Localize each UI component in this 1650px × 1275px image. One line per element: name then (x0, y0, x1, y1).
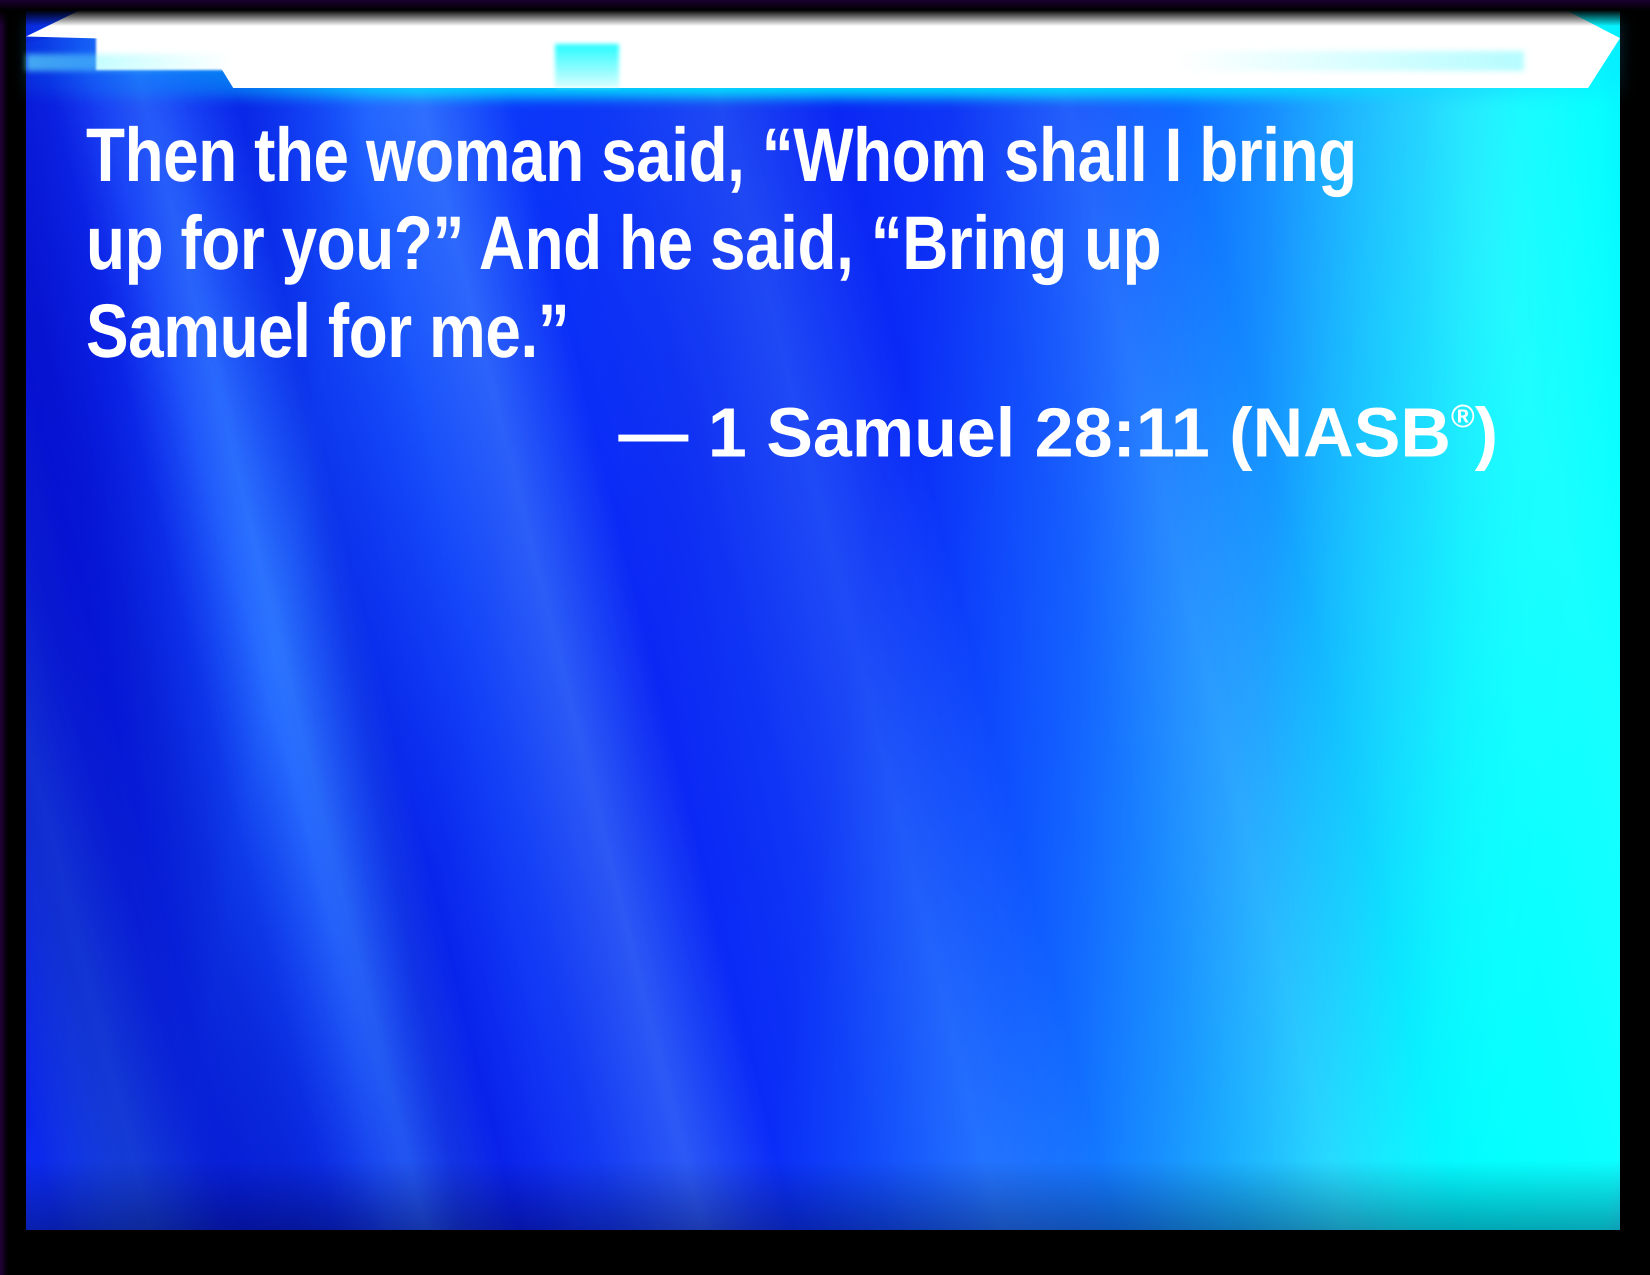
verse-text-block: Then the woman said, “Whom shall I bring… (86, 112, 1498, 376)
verse-line-3: Samuel for me.” (86, 288, 1272, 376)
registered-trademark-icon: ® (1451, 398, 1475, 434)
header-band-cyan-wisp-right (1174, 51, 1525, 71)
verse-line-2: up for you?” And he said, “Bring up (86, 200, 1272, 288)
background-bottom-shade (26, 1160, 1620, 1230)
verse-line-1: Then the woman said, “Whom shall I bring (86, 112, 1272, 200)
verse-slide: Then the woman said, “Whom shall I bring… (0, 0, 1650, 1275)
attribution-em-dash: — (618, 394, 688, 472)
verse-attribution: — 1 Samuel 28:11 (NASB®) (86, 375, 1498, 474)
header-band-cyan-notch (555, 44, 619, 88)
attribution-close-paren: ) (1475, 394, 1498, 472)
attribution-open-paren: ( (1229, 394, 1252, 472)
attribution-translation: NASB (1253, 394, 1451, 472)
header-band-cyan-wisp-left (26, 54, 233, 71)
attribution-spacer-2 (1210, 394, 1229, 472)
attribution-reference: 1 Samuel 28:11 (708, 394, 1210, 472)
header-white-band (26, 10, 1620, 88)
attribution-spacer-1 (688, 394, 707, 472)
